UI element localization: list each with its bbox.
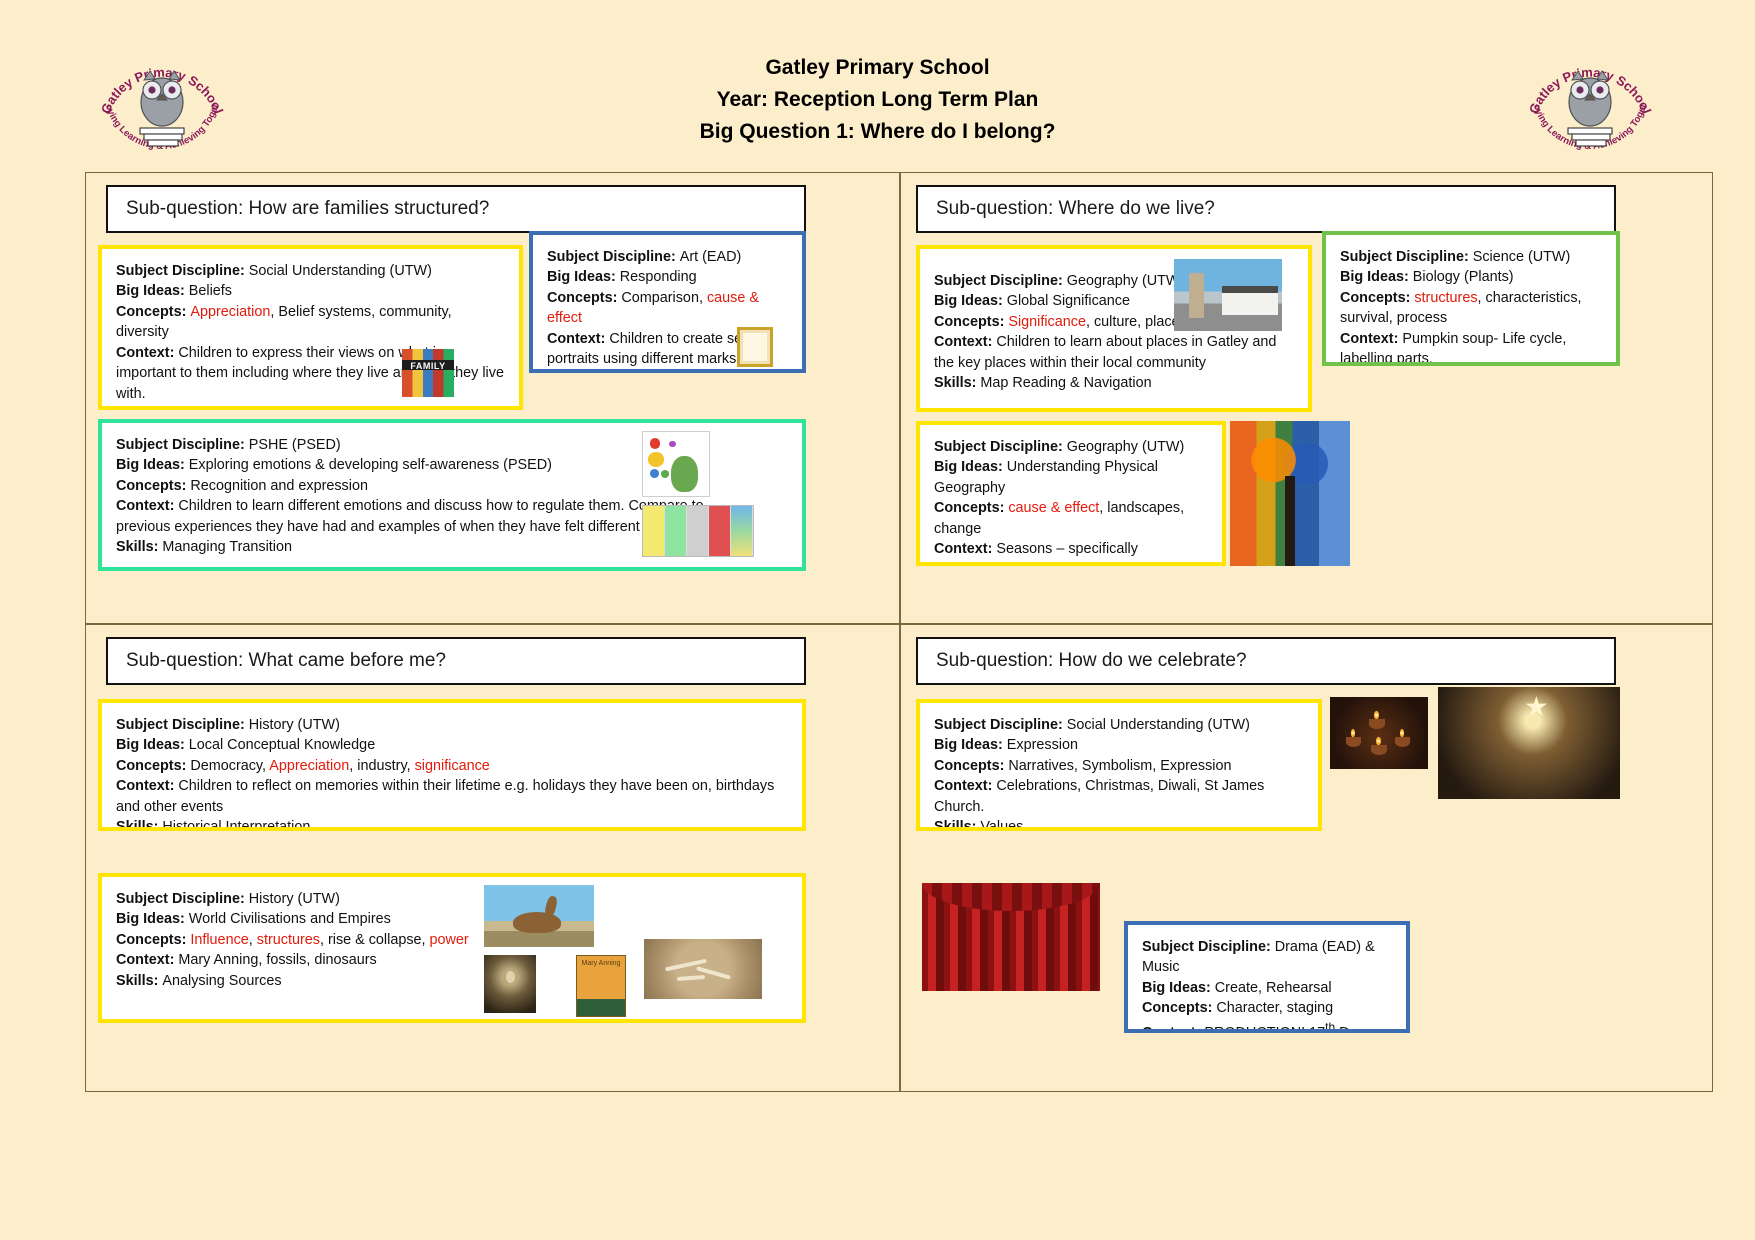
card-art[interactable]: Subject Discipline: Art (EAD) Big Ideas:… xyxy=(529,231,806,373)
sub-question-what-came-before: Sub-question: What came before me? xyxy=(106,637,806,685)
field-concepts: Concepts: Comparison, cause & effect xyxy=(547,288,788,329)
field-subject-discipline: Subject Discipline: History (UTW) xyxy=(116,715,788,735)
field-concepts: Concepts: Narratives, Symbolism, Express… xyxy=(934,756,1304,776)
picture-frame-image xyxy=(737,327,773,367)
production-context: PRODUCTION! 17th Dec xyxy=(1204,1025,1364,1033)
fossil-image xyxy=(644,939,762,999)
field-skills: Skills: Values xyxy=(934,817,1304,831)
field-context: Context: Celebrations, Christmas, Diwali… xyxy=(934,776,1304,817)
field-context: Context: Children to reflect on memories… xyxy=(116,776,786,817)
field-context: Context: Seasons – specifically observat… xyxy=(934,539,1206,566)
field-big-ideas: Big Ideas: Expression xyxy=(934,735,1304,755)
field-subject-discipline: Subject Discipline: Art (EAD) xyxy=(547,247,788,267)
quadrant-where-we-live: Sub-question: Where do we live? Subject … xyxy=(900,173,1713,623)
card-social-understanding-celebrations[interactable]: Subject Discipline: Social Understanding… xyxy=(916,699,1322,831)
year-plan-title: Year: Reception Long Term Plan xyxy=(0,84,1755,116)
long-term-plan-page: Gatley Primary School Enjoying Learning … xyxy=(0,0,1755,1240)
field-subject-discipline: Subject Discipline: Science (UTW) xyxy=(1340,247,1602,267)
field-concepts: Concepts: Appreciation, Belief systems, … xyxy=(116,302,505,343)
field-skills: Skills: Families & People Who Care for M… xyxy=(116,404,505,410)
card-science[interactable]: Subject Discipline: Science (UTW) Big Id… xyxy=(1322,231,1620,366)
card-pshe[interactable]: Subject Discipline: PSHE (PSED) Big Idea… xyxy=(98,419,806,571)
card-geography-physical[interactable]: Subject Discipline: Geography (UTW) Big … xyxy=(916,421,1226,566)
field-concepts: Concepts: Character, staging xyxy=(1142,998,1392,1018)
sub-question-where-we-live: Sub-question: Where do we live? xyxy=(916,185,1616,233)
mary-anning-portrait-image xyxy=(484,955,536,1013)
quadrant-how-we-celebrate: Sub-question: How do we celebrate? Subje… xyxy=(900,625,1713,1091)
page-header: Gatley Primary School Year: Reception Lo… xyxy=(0,52,1755,148)
field-skills: Skills: Planning & Exploring xyxy=(547,370,788,373)
card-history-local[interactable]: Subject Discipline: History (UTW) Big Id… xyxy=(98,699,806,831)
field-subject-discipline: Subject Discipline: Social Understanding… xyxy=(934,715,1304,735)
sub-question-how-we-celebrate: Sub-question: How do we celebrate? xyxy=(916,637,1616,685)
emotions-chart-image xyxy=(642,505,754,557)
field-big-ideas: Big Ideas: Beliefs xyxy=(116,281,505,301)
family-book-cover-image xyxy=(402,349,454,397)
card-geography-global[interactable]: Subject Discipline: Geography (UTW) Big … xyxy=(916,245,1312,412)
school-name: Gatley Primary School xyxy=(0,52,1755,84)
field-concepts: Concepts: cause & effect, landscapes, ch… xyxy=(934,498,1208,539)
nativity-scene-image xyxy=(1438,687,1620,799)
field-subject-discipline: Subject Discipline: Drama (EAD) & Music xyxy=(1142,937,1392,978)
field-big-ideas: Big Ideas: World Civilisations and Empir… xyxy=(116,909,788,929)
field-big-ideas: Big Ideas: Local Conceptual Knowledge xyxy=(116,735,788,755)
quadrant-what-came-before: Sub-question: What came before me? Subje… xyxy=(86,625,899,1091)
field-subject-discipline: Subject Discipline: Geography (UTW) xyxy=(934,437,1208,457)
field-subject-discipline: Subject Discipline: Social Understanding… xyxy=(116,261,505,281)
dinosaur-image xyxy=(484,885,594,947)
mary-anning-book-image: Mary Anning xyxy=(576,955,626,1017)
field-big-ideas: Big Ideas: Biology (Plants) xyxy=(1340,267,1602,287)
big-question-title: Big Question 1: Where do I belong? xyxy=(0,116,1755,148)
colour-monster-book-image xyxy=(642,431,710,497)
sub-question-families: Sub-question: How are families structure… xyxy=(106,185,806,233)
red-stage-curtain-image xyxy=(922,883,1100,991)
field-context: Context: PRODUCTION! 17th Dec xyxy=(1142,1019,1392,1033)
seasons-tree-painting-image xyxy=(1230,421,1350,566)
field-subject-discipline: Subject Discipline: History (UTW) xyxy=(116,889,788,909)
field-concepts: Concepts: Democracy, Appreciation, indus… xyxy=(116,756,788,776)
field-big-ideas: Big Ideas: Create, Rehearsal xyxy=(1142,978,1392,998)
field-big-ideas: Big Ideas: Understanding Physical Geogra… xyxy=(934,457,1208,498)
gatley-village-photo-image xyxy=(1174,259,1282,331)
quadrant-families: Sub-question: How are families structure… xyxy=(86,173,899,623)
card-history-world[interactable]: Subject Discipline: History (UTW) Big Id… xyxy=(98,873,806,1023)
card-social-understanding[interactable]: Subject Discipline: Social Understanding… xyxy=(98,245,523,410)
field-context: Context: Pumpkin soup- Life cycle, label… xyxy=(1340,329,1602,366)
field-skills: Skills: Historical Interpretation xyxy=(116,817,788,831)
field-context: Context: Children to learn about places … xyxy=(934,332,1284,373)
field-skills: Skills: Map Reading & Navigation xyxy=(934,373,1294,393)
field-concepts: Concepts: structures, characteristics, s… xyxy=(1340,288,1602,329)
field-big-ideas: Big Ideas: Responding xyxy=(547,267,788,287)
diwali-lamps-image xyxy=(1330,697,1428,769)
plan-grid: Sub-question: How are families structure… xyxy=(85,172,1713,1092)
card-drama-music[interactable]: Subject Discipline: Drama (EAD) & Music … xyxy=(1124,921,1410,1033)
